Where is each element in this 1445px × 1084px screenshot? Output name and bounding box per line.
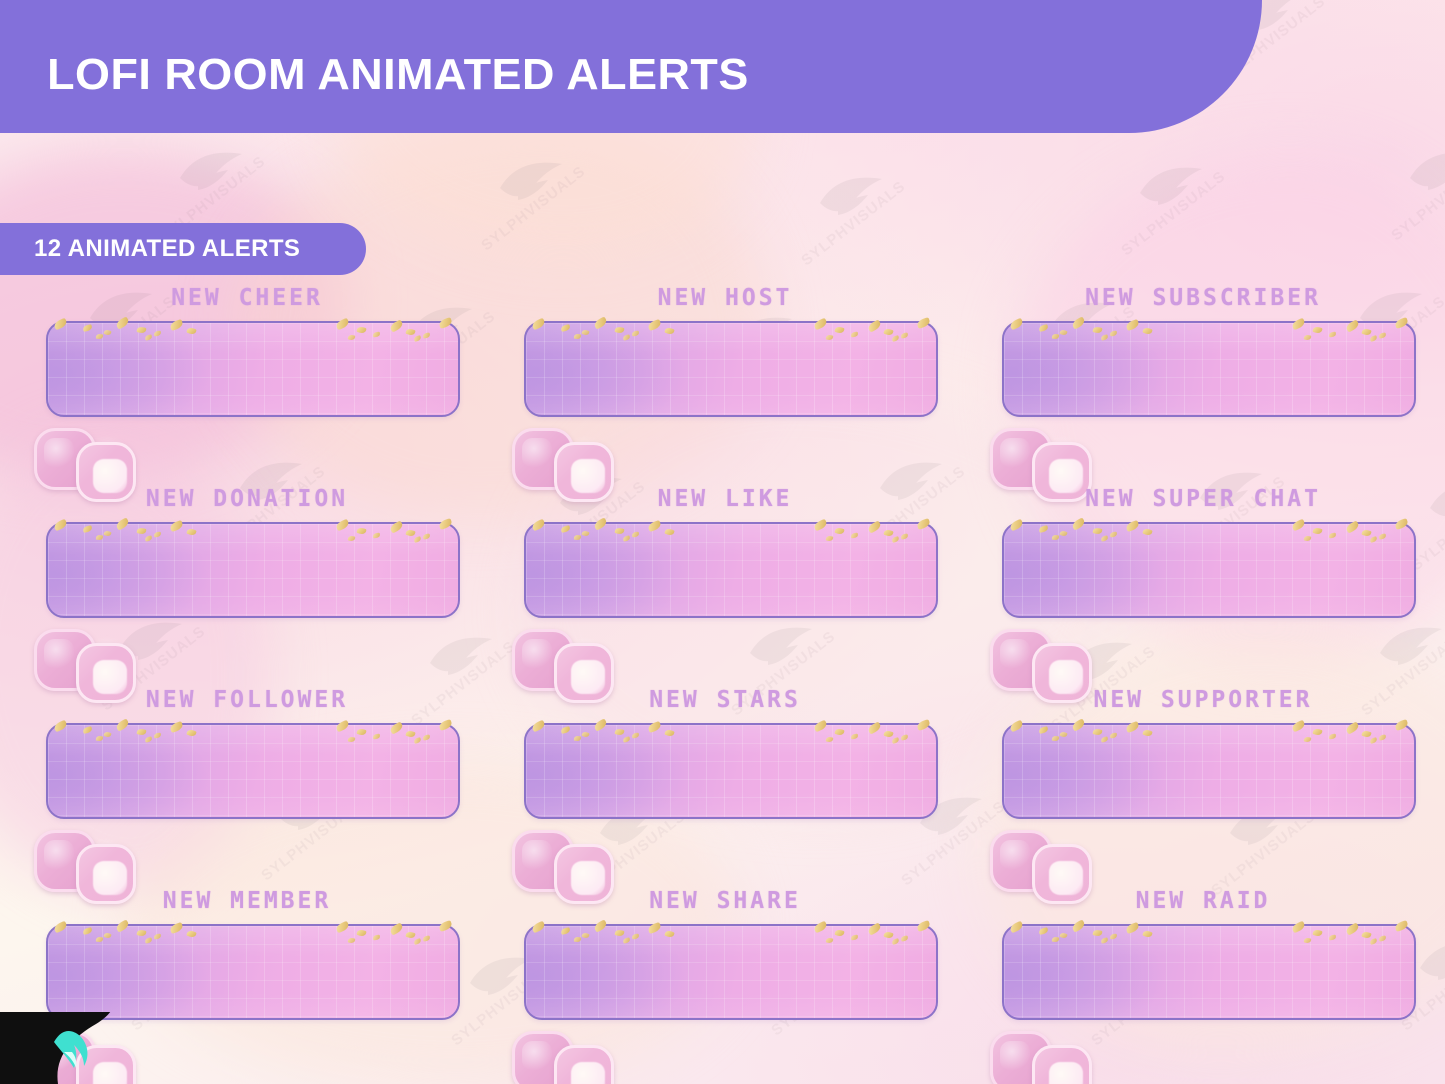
box-sheen [48, 323, 458, 415]
alert-banner-box[interactable] [46, 522, 460, 618]
alert-card[interactable]: NEW SUBSCRIBER [990, 283, 1445, 484]
alert-card[interactable]: NEW LIKE [512, 484, 967, 685]
alerts-row: NEW MEMBERNEW SHARENEW RAID [0, 886, 1445, 1084]
alert-card[interactable]: NEW SUPER CHAT [990, 484, 1445, 685]
alerts-row: NEW CHEERNEW HOSTNEW SUBSCRIBER [0, 283, 1445, 484]
alert-card[interactable]: NEW RAID [990, 886, 1445, 1084]
alert-card[interactable]: NEW HOST [512, 283, 967, 484]
box-sheen [1004, 323, 1414, 415]
alerts-grid: NEW CHEERNEW HOSTNEW SUBSCRIBERNEW DONAT… [0, 283, 1445, 1084]
alert-card-title: NEW SUBSCRIBER [990, 283, 1416, 313]
box-sheen [1004, 524, 1414, 616]
box-sheen [526, 524, 936, 616]
box-sheen [48, 524, 458, 616]
alert-banner-box[interactable] [1002, 522, 1416, 618]
alert-banner-box[interactable] [524, 522, 938, 618]
box-sheen [1004, 725, 1414, 817]
box-sheen [526, 725, 936, 817]
header-banner: LOFI ROOM ANIMATED ALERTS [0, 0, 1262, 133]
alert-banner-box[interactable] [1002, 924, 1416, 1020]
watermark-text: SYLPHVISUALS [1388, 153, 1445, 245]
alert-card-title: NEW SHARE [512, 886, 938, 916]
watermark-bird-icon [818, 173, 884, 224]
alert-card-title: NEW SUPPORTER [990, 685, 1416, 715]
watermark-bird-icon [1138, 163, 1204, 214]
macaron-decoration [506, 1025, 616, 1084]
macaron-decoration [984, 1025, 1094, 1084]
watermark-bird-icon [1408, 148, 1445, 199]
alert-card-title: NEW FOLLOWER [34, 685, 460, 715]
box-sheen [1004, 926, 1414, 1018]
alert-card-title: NEW DONATION [34, 484, 460, 514]
box-sheen [48, 725, 458, 817]
brand-logo-svg [0, 1012, 146, 1084]
alert-card-title: NEW LIKE [512, 484, 938, 514]
watermark-text: SYLPHVISUALS [478, 163, 589, 255]
watermark-bird-icon [178, 148, 244, 199]
alert-banner-box[interactable] [1002, 723, 1416, 819]
alert-card[interactable]: NEW FOLLOWER [34, 685, 489, 886]
box-sheen [526, 926, 936, 1018]
alert-card-title: NEW CHEER [34, 283, 460, 313]
alert-card[interactable]: NEW SHARE [512, 886, 967, 1084]
alert-banner-box[interactable] [46, 321, 460, 417]
box-sheen [48, 926, 458, 1018]
alert-card-title: NEW MEMBER [34, 886, 460, 916]
alert-banner-box[interactable] [524, 924, 938, 1020]
watermark-bird-icon [498, 158, 564, 209]
preview-canvas: SYLPHVISUALSSYLPHVISUALSSYLPHVISUALSSYLP… [0, 0, 1445, 1084]
alert-banner-box[interactable] [46, 723, 460, 819]
brand-logo [0, 1012, 146, 1084]
alert-card-title: NEW HOST [512, 283, 938, 313]
watermark-text: SYLPHVISUALS [798, 178, 909, 270]
alerts-row: NEW DONATIONNEW LIKENEW SUPER CHAT [0, 484, 1445, 685]
watermark-text: SYLPHVISUALS [1118, 168, 1229, 260]
alerts-row: NEW FOLLOWERNEW STARSNEW SUPPORTER [0, 685, 1445, 886]
alert-banner-box[interactable] [524, 723, 938, 819]
box-sheen [526, 323, 936, 415]
alert-card[interactable]: NEW DONATION [34, 484, 489, 685]
alert-card[interactable]: NEW SUPPORTER [990, 685, 1445, 886]
page-title: LOFI ROOM ANIMATED ALERTS [47, 50, 749, 100]
alert-card[interactable]: NEW CHEER [34, 283, 489, 484]
alert-card-title: NEW STARS [512, 685, 938, 715]
alert-count-badge: 12 ANIMATED ALERTS [0, 223, 366, 275]
alert-card-title: NEW RAID [990, 886, 1416, 916]
macaron-front-icon [1032, 1045, 1092, 1084]
macaron-front-icon [554, 1045, 614, 1084]
alert-count-badge-label: 12 ANIMATED ALERTS [34, 235, 300, 263]
alert-banner-box[interactable] [1002, 321, 1416, 417]
alert-card-title: NEW SUPER CHAT [990, 484, 1416, 514]
alert-card[interactable]: NEW STARS [512, 685, 967, 886]
alert-banner-box[interactable] [524, 321, 938, 417]
alert-banner-box[interactable] [46, 924, 460, 1020]
